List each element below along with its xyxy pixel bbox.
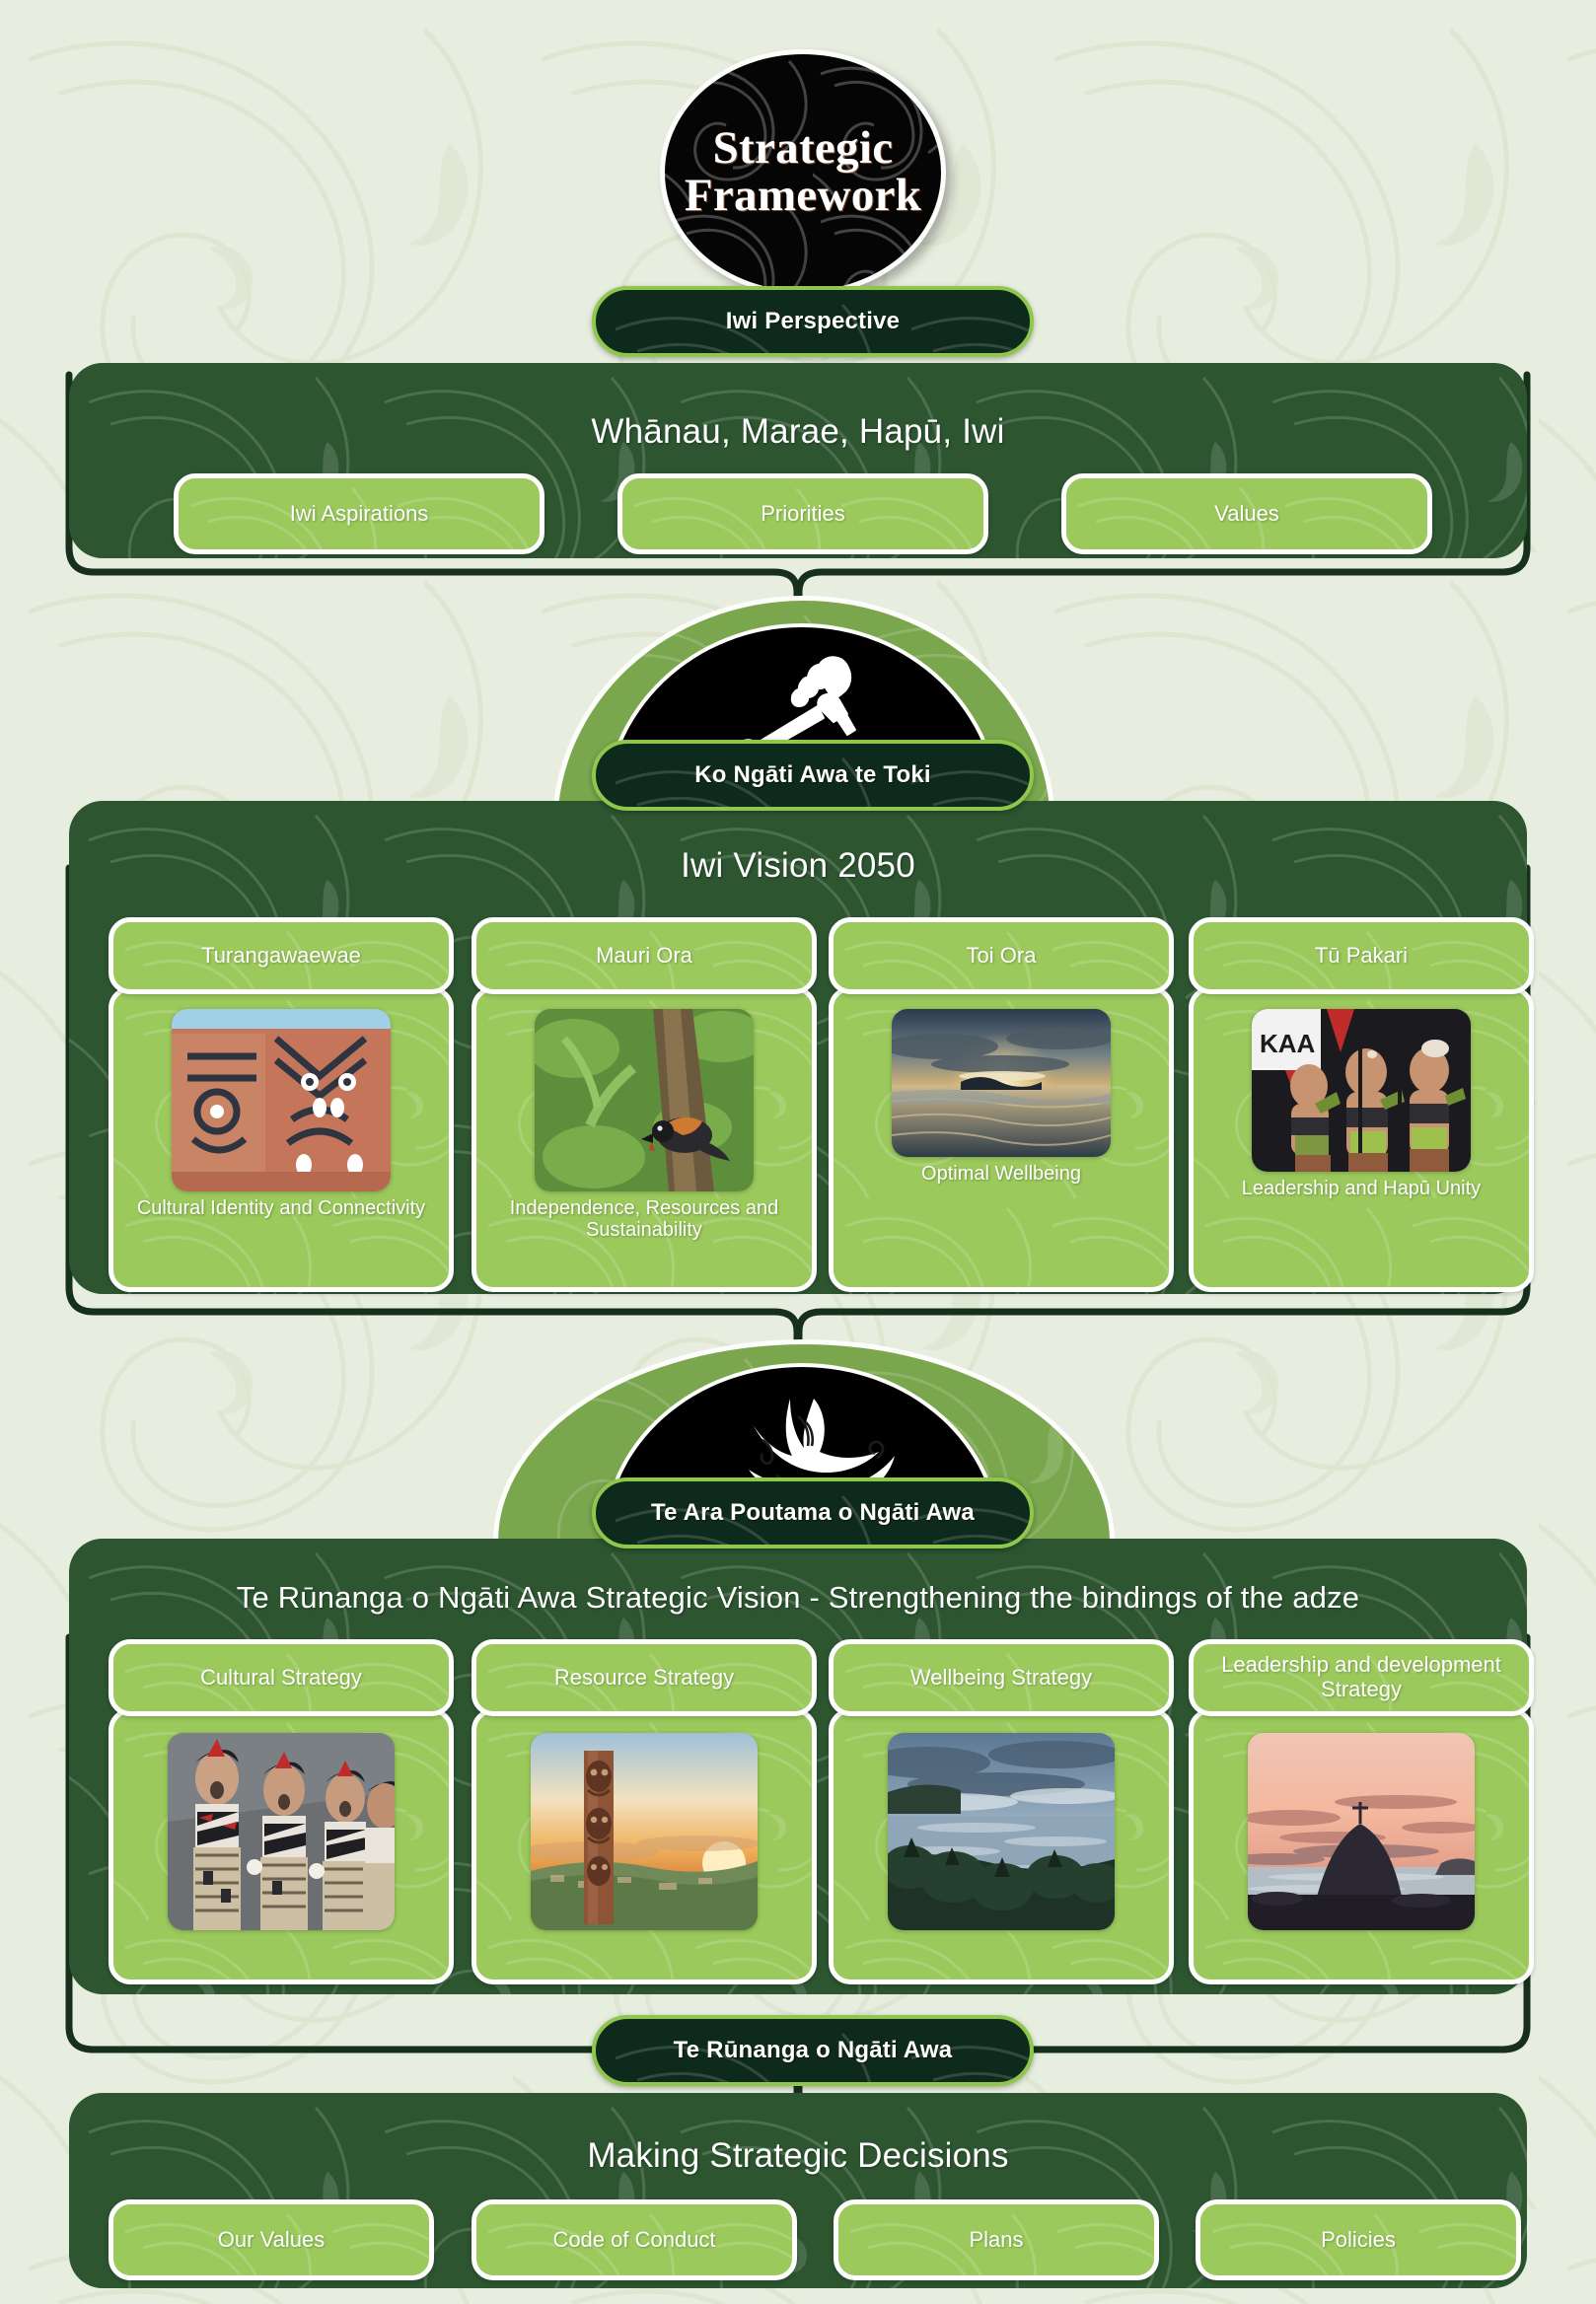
tag-label: Te Rūnanga o Ngāti Awa	[674, 2037, 953, 2064]
tag-ko-ngati-awa-te-toki[interactable]: Ko Ngāti Awa te Toki	[592, 740, 1034, 811]
card-toi-ora[interactable]: Optimal Wellbeing	[829, 986, 1174, 1292]
card-tu-pakari[interactable]: KAA	[1189, 986, 1534, 1292]
pill-label: Plans	[959, 2228, 1033, 2253]
svg-text:KAA: KAA	[1260, 1029, 1316, 1058]
pill-code-of-conduct[interactable]: Code of Conduct	[472, 2199, 797, 2280]
card-header-label: Tū Pakari	[1305, 944, 1417, 969]
tag-label: Iwi Perspective	[726, 308, 900, 335]
card-photo-coastal-rock-dusk	[1248, 1733, 1475, 1930]
card-header-cultural-strategy[interactable]: Cultural Strategy	[109, 1639, 454, 1716]
card-caption: Leadership and Hapū Unity	[1234, 1172, 1488, 1199]
card-header-label: Toi Ora	[957, 944, 1047, 969]
card-cultural-strategy[interactable]	[109, 1708, 454, 1984]
card-header-turangawaewae[interactable]: Turangawaewae	[109, 917, 454, 994]
card-turangawaewae[interactable]: Cultural Identity and Connectivity	[109, 986, 454, 1292]
pill-label: Iwi Aspirations	[280, 502, 439, 527]
card-photo-misty-lake	[888, 1733, 1115, 1930]
card-photo-kapa-haka: KAA	[1252, 1009, 1471, 1172]
card-photo-carved-wharenui	[172, 1009, 391, 1191]
emblem-title-line2: Framework	[685, 173, 921, 220]
card-header-label: Turangawaewae	[191, 944, 371, 969]
card-caption: Cultural Identity and Connectivity	[129, 1191, 433, 1219]
section-title-iwi-vision: Iwi Vision 2050	[69, 846, 1527, 886]
pill-iwi-aspirations[interactable]: Iwi Aspirations	[174, 473, 544, 554]
card-caption: Independence, Resources and Sustainabili…	[476, 1191, 812, 1242]
tag-te-runanga-o-ngati-awa[interactable]: Te Rūnanga o Ngāti Awa	[592, 2015, 1034, 2086]
tag-label: Ko Ngāti Awa te Toki	[694, 761, 931, 789]
card-mauri-ora[interactable]: Independence, Resources and Sustainabili…	[472, 986, 817, 1292]
card-wellbeing-strategy[interactable]	[829, 1708, 1174, 1984]
card-header-mauri-ora[interactable]: Mauri Ora	[472, 917, 817, 994]
pill-plans[interactable]: Plans	[834, 2199, 1159, 2280]
card-header-label: Mauri Ora	[586, 944, 702, 969]
section-title-iwi-perspective: Whānau, Marae, Hapū, Iwi	[69, 412, 1527, 452]
pill-priorities[interactable]: Priorities	[617, 473, 988, 554]
section-title-strategic-decisions: Making Strategic Decisions	[69, 2136, 1527, 2176]
tag-te-ara-poutama[interactable]: Te Ara Poutama o Ngāti Awa	[592, 1477, 1034, 1548]
card-header-wellbeing-strategy[interactable]: Wellbeing Strategy	[829, 1639, 1174, 1716]
pill-values[interactable]: Values	[1061, 473, 1432, 554]
card-header-leadership-development-strategy[interactable]: Leadership and development Strategy	[1189, 1639, 1534, 1716]
card-header-resource-strategy[interactable]: Resource Strategy	[472, 1639, 817, 1716]
card-leadership-development-strategy[interactable]	[1189, 1708, 1534, 1984]
pill-our-values[interactable]: Our Values	[109, 2199, 434, 2280]
card-header-toi-ora[interactable]: Toi Ora	[829, 917, 1174, 994]
tag-iwi-perspective[interactable]: Iwi Perspective	[592, 286, 1034, 357]
pill-label: Code of Conduct	[543, 2228, 725, 2253]
card-photo-sunrise-ocean	[892, 1009, 1111, 1157]
card-header-label: Resource Strategy	[544, 1666, 744, 1691]
pill-label: Policies	[1311, 2228, 1406, 2253]
pill-policies[interactable]: Policies	[1196, 2199, 1521, 2280]
card-resource-strategy[interactable]	[472, 1708, 817, 1984]
pill-label: Priorities	[751, 502, 855, 527]
section-title-strategic-vision: Te Rūnanga o Ngāti Awa Strategic Vision …	[69, 1580, 1527, 1616]
card-photo-kapa-haka-women	[168, 1733, 395, 1930]
card-header-label: Leadership and development Strategy	[1194, 1653, 1529, 1701]
card-header-label: Wellbeing Strategy	[901, 1666, 1102, 1691]
card-photo-native-bird	[535, 1009, 754, 1191]
strategic-framework-emblem: Strategic Framework	[660, 49, 946, 296]
card-caption: Optimal Wellbeing	[913, 1157, 1089, 1185]
card-photo-pou-sunset	[531, 1733, 758, 1930]
pill-label: Values	[1204, 502, 1289, 527]
tag-label: Te Ara Poutama o Ngāti Awa	[651, 1499, 975, 1527]
pill-label: Our Values	[208, 2228, 334, 2253]
emblem-title-line1: Strategic	[685, 125, 921, 173]
card-header-tu-pakari[interactable]: Tū Pakari	[1189, 917, 1534, 994]
card-header-label: Cultural Strategy	[190, 1666, 372, 1691]
